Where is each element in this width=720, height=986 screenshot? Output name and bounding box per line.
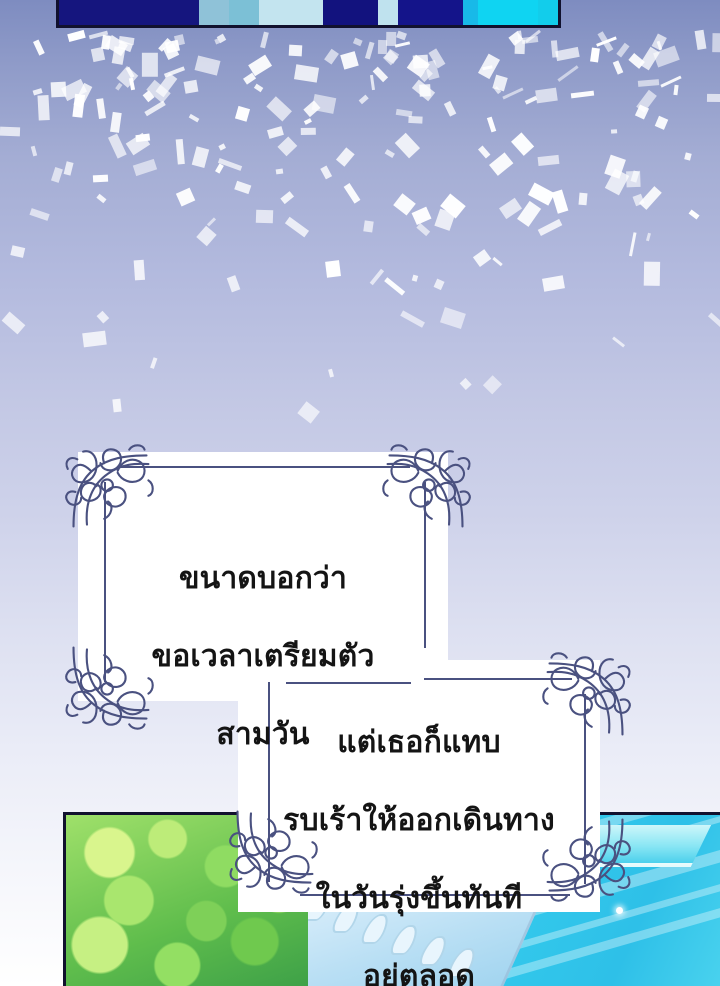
bubble-upper-line-2: ขอเวลาเตรียมตัว <box>78 637 448 676</box>
bubble-lower-line-2: รบเร้าให้ออกเดินทาง <box>238 801 600 840</box>
comic-page: ขนาดบอกว่า ขอเวลาเตรียมตัว สามวัน แต่เธอ… <box>0 0 720 986</box>
bubble-lower-line-4: อยู่ตลอด <box>238 957 600 986</box>
bubble-lower-line-1: แต่เธอก็แทบ <box>238 723 600 762</box>
speech-bubble-group: ขนาดบอกว่า ขอเวลาเตรียมตัว สามวัน แต่เธอ… <box>0 0 720 986</box>
bubble-lower-text: แต่เธอก็แทบ รบเร้าให้ออกเดินทาง ในวันรุ่… <box>238 684 600 986</box>
bubble-upper-line-1: ขนาดบอกว่า <box>78 559 448 598</box>
bubble-upper-top-edge <box>120 466 410 468</box>
bubble-lower-line-3: ในวันรุ่งขึ้นทันที <box>238 879 600 918</box>
